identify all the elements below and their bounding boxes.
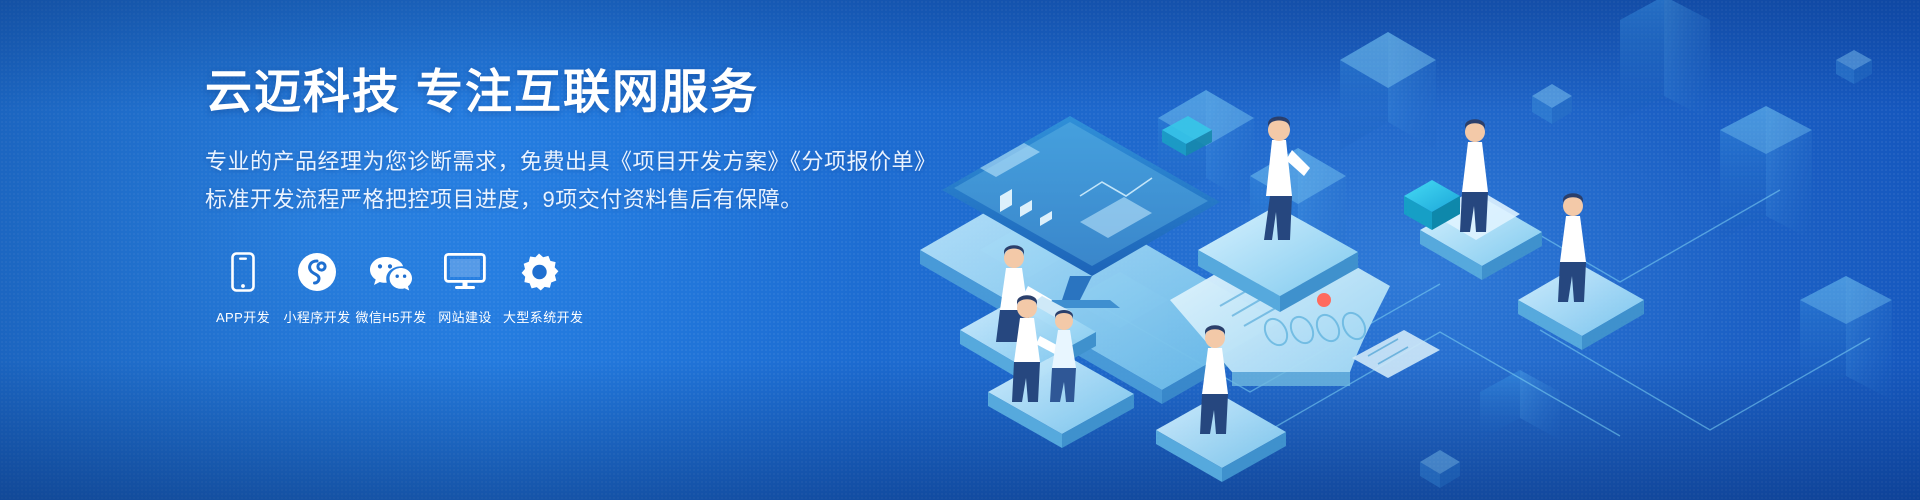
banner-headline: 云迈科技 专注互联网服务 [205,64,925,119]
hero-banner: 云迈科技 专注互联网服务 专业的产品经理为您诊断需求，免费出具《项目开发方案》《… [0,0,1920,500]
subtitle-line-1: 专业的产品经理为您诊断需求，免费出具《项目开发方案》《分项报价单》 [205,143,925,181]
mini-program-icon [281,249,353,295]
service-label-large-system: 大型系统开发 [503,307,575,326]
banner-content: 云迈科技 专注互联网服务 专业的产品经理为您诊断需求，免费出具《项目开发方案》《… [205,64,925,326]
service-item-app[interactable]: APP开发 [207,249,279,326]
subtitle-line-2: 标准开发流程严格把控项目进度，9项交付资料售后有保障。 [205,181,925,219]
service-label-app: APP开发 [207,307,279,326]
gear-icon [503,249,575,295]
service-list: APP开发 小程序开发 [207,249,925,326]
service-label-website: 网站建设 [429,307,501,326]
monitor-icon [429,249,501,295]
banner-subtitle: 专业的产品经理为您诊断需求，免费出具《项目开发方案》《分项报价单》 标准开发流程… [205,143,925,219]
service-label-mini-program: 小程序开发 [281,307,353,326]
service-item-website[interactable]: 网站建设 [429,249,501,326]
wechat-icon [355,249,427,295]
service-item-large-system[interactable]: 大型系统开发 [503,249,575,326]
mobile-phone-icon [207,249,279,295]
service-label-wechat: 微信H5开发 [355,307,427,326]
isometric-illustration [920,0,1920,500]
service-item-wechat[interactable]: 微信H5开发 [355,249,427,326]
service-item-mini-program[interactable]: 小程序开发 [281,249,353,326]
